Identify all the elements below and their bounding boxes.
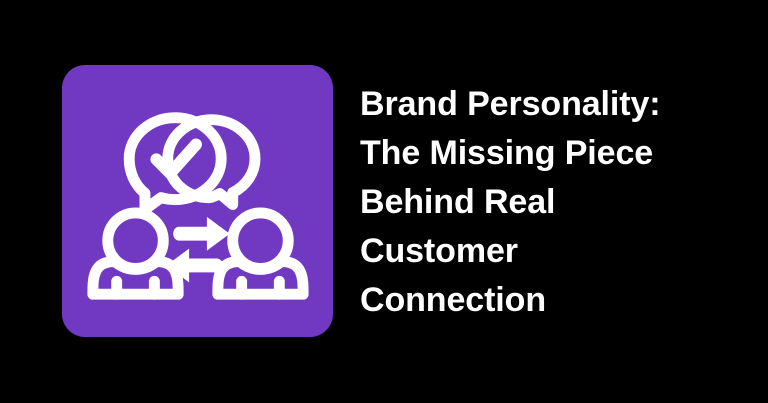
page-title: Brand Personality: The Missing Piece Beh…	[360, 80, 752, 325]
two-people-conversation-icon	[79, 82, 317, 320]
title-block: Brand Personality: The Missing Piece Beh…	[360, 80, 752, 325]
person-right-body-icon	[217, 261, 302, 294]
checkmark-icon	[156, 144, 196, 173]
person-left-body-icon	[92, 261, 177, 294]
arrow-right-icon	[173, 217, 230, 251]
brand-personality-icon-card	[62, 65, 333, 337]
blog-banner: Brand Personality: The Missing Piece Beh…	[0, 0, 768, 403]
